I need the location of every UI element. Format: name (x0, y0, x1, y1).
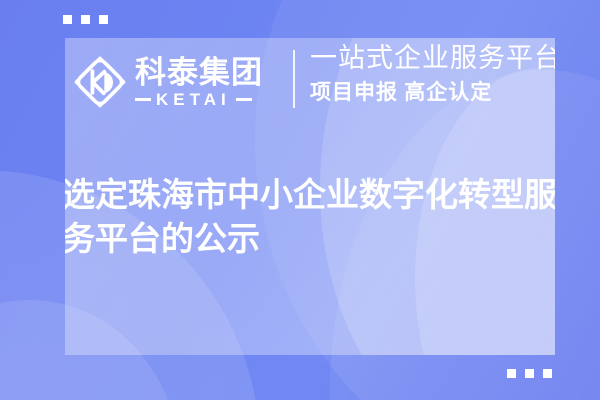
tagline-sub: 项目申报 高企认定 (310, 80, 555, 105)
brand-rule-left-icon (135, 98, 151, 101)
square-dot-icon (99, 15, 108, 24)
promo-banner: 科泰集团 KETAI 一站式企业服务平台 项目申报 高企认定 选定珠海市中小企业… (0, 0, 600, 400)
tagline-block: 一站式企业服务平台 项目申报 高企认定 (310, 42, 555, 105)
decorative-dots-top-left (63, 15, 108, 24)
brand-name-cn: 科泰集团 (135, 56, 263, 90)
vertical-divider (293, 50, 295, 108)
square-dot-icon (525, 369, 534, 378)
brand-name-en-row: KETAI (135, 91, 263, 109)
tagline-main: 一站式企业服务平台 (310, 42, 555, 75)
square-dot-icon (63, 15, 72, 24)
brand-lockup: 科泰集团 KETAI (73, 46, 263, 118)
content-panel: 科泰集团 KETAI 一站式企业服务平台 项目申报 高企认定 选定珠海市中小企业… (65, 38, 555, 355)
square-dot-icon (507, 369, 516, 378)
ketai-diamond-kd-logo-icon (73, 55, 127, 109)
brand-names: 科泰集团 KETAI (135, 56, 263, 109)
decorative-dots-bottom-right (507, 369, 552, 378)
brand-rule-right-icon (236, 98, 252, 101)
headline-title: 选定珠海市中小企业数字化转型服务平台的公示 (65, 173, 555, 261)
square-dot-icon (543, 369, 552, 378)
brand-name-en: KETAI (156, 91, 231, 109)
square-dot-icon (81, 15, 90, 24)
